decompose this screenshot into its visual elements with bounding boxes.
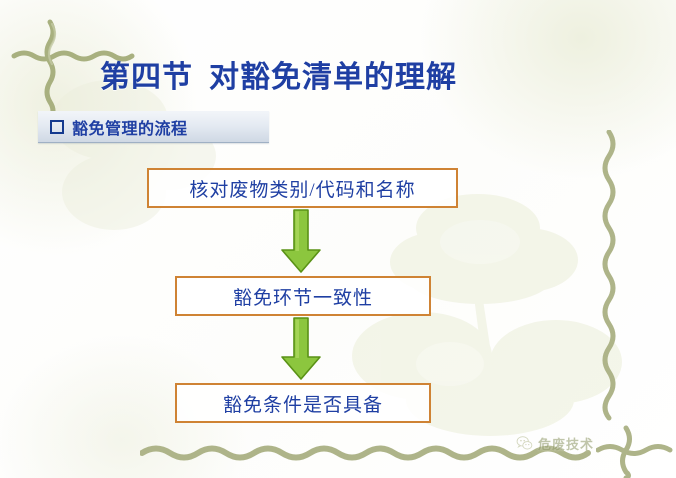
flow-node-2-label: 豁免环节一致性 bbox=[233, 283, 373, 310]
down-arrow-icon bbox=[276, 316, 326, 381]
down-arrow-icon bbox=[276, 208, 326, 274]
flow-node-1-label: 核对废物类别/代码和名称 bbox=[189, 175, 415, 202]
flow-node-3[interactable]: 豁免条件是否具备 bbox=[175, 383, 431, 423]
watermark-label: 危废技术 bbox=[538, 434, 594, 453]
watermark-logo: 危废技术 bbox=[516, 434, 594, 453]
flowchart: 核对废物类别/代码和名称 豁免环节一致性 豁免条件是否具备 bbox=[0, 0, 676, 478]
wechat-icon bbox=[516, 435, 533, 452]
slide-canvas: 第四节对豁免清单的理解 豁免管理的流程 核对废物类别/代码和名称 豁免环节一致性… bbox=[0, 0, 676, 478]
flow-node-1[interactable]: 核对废物类别/代码和名称 bbox=[147, 168, 458, 208]
flow-node-2[interactable]: 豁免环节一致性 bbox=[175, 276, 431, 316]
flow-node-3-label: 豁免条件是否具备 bbox=[223, 390, 383, 417]
